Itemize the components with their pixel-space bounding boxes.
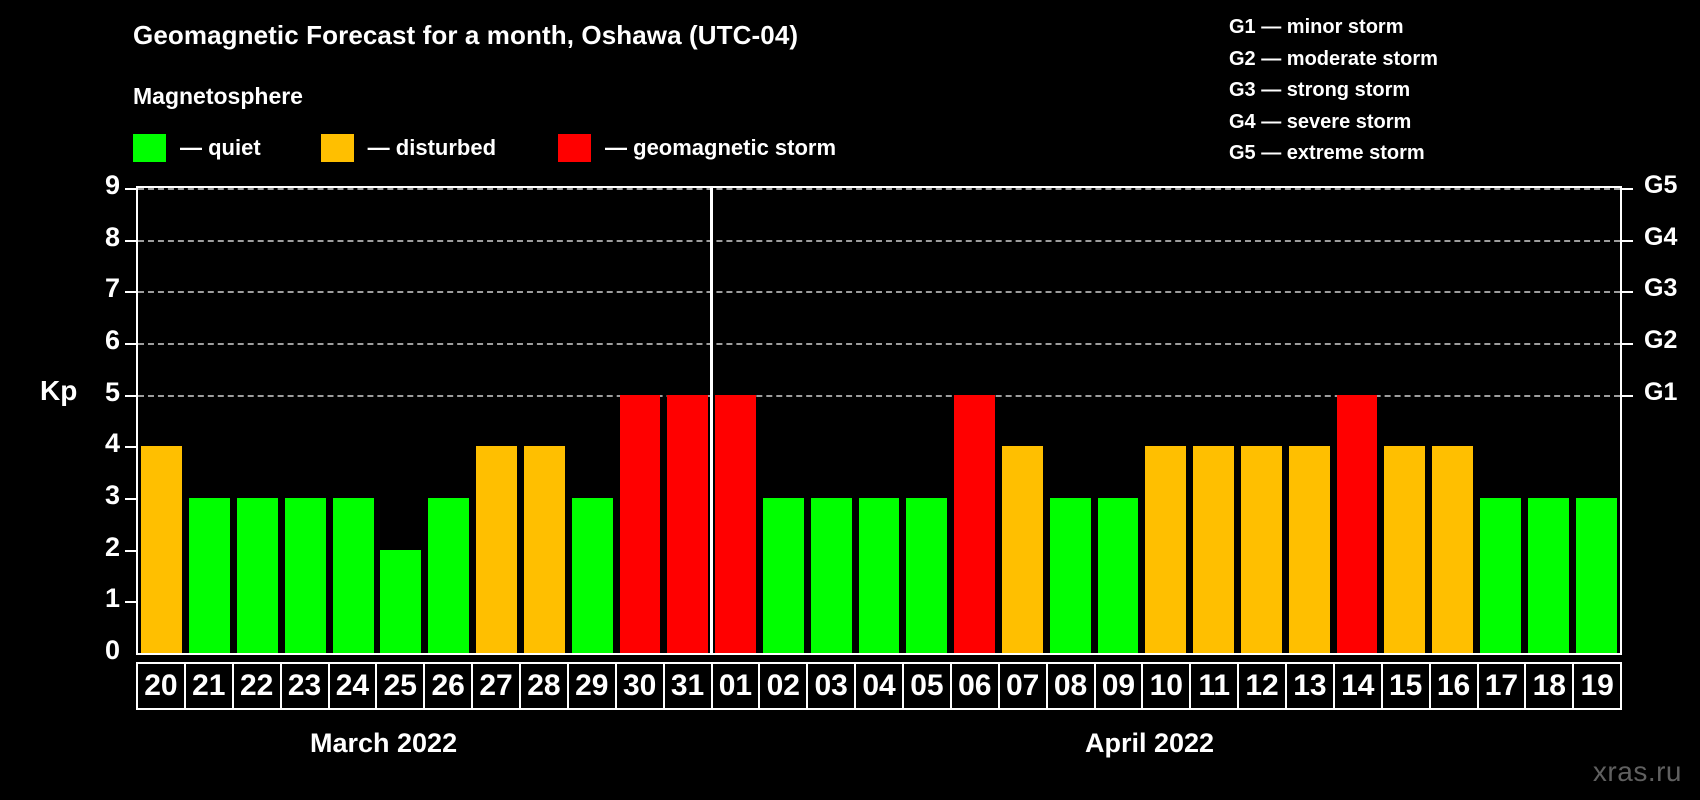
legend-label-disturbed: — disturbed [368, 135, 496, 161]
day-label-11[interactable]: 11 [1189, 662, 1239, 710]
day-label-29[interactable]: 29 [567, 662, 617, 710]
y-tick-label-2: 2 [60, 532, 120, 563]
storm-scale-g2: G2 — moderate storm [1229, 44, 1438, 76]
day-label-19[interactable]: 19 [1572, 662, 1622, 710]
day-label-27[interactable]: 27 [471, 662, 521, 710]
g-tick-label-G5: G5 [1644, 171, 1677, 200]
y-tick-mark-7 [125, 291, 136, 293]
legend-item-disturbed: — disturbed [321, 134, 496, 162]
day-label-09[interactable]: 09 [1094, 662, 1144, 710]
legend-item-quiet: — quiet [133, 134, 261, 162]
page-title: Geomagnetic Forecast for a month, Oshawa… [133, 20, 798, 51]
bar-day-02 [763, 498, 804, 653]
day-label-01[interactable]: 01 [711, 662, 761, 710]
bar-day-13 [1289, 446, 1330, 653]
y-tick-label-9: 9 [60, 170, 120, 201]
plot-area [136, 186, 1622, 655]
bar-day-30 [620, 395, 661, 653]
storm-scale-g3: G3 — strong storm [1229, 75, 1438, 107]
day-axis: 2021222324252627282930310102030405060708… [136, 662, 1622, 710]
legend-swatch-quiet [133, 134, 166, 162]
y-tick-mark-3 [125, 498, 136, 500]
day-label-10[interactable]: 10 [1141, 662, 1191, 710]
bar-day-19 [1576, 498, 1617, 653]
bar-day-09 [1098, 498, 1139, 653]
day-label-26[interactable]: 26 [423, 662, 473, 710]
day-label-18[interactable]: 18 [1524, 662, 1574, 710]
day-label-12[interactable]: 12 [1237, 662, 1287, 710]
day-label-24[interactable]: 24 [328, 662, 378, 710]
y-tick-mark-9 [125, 188, 136, 190]
y-tick-label-5: 5 [60, 377, 120, 408]
y-tick-label-1: 1 [60, 583, 120, 614]
day-label-15[interactable]: 15 [1381, 662, 1431, 710]
y-tick-label-3: 3 [60, 480, 120, 511]
bar-day-06 [954, 395, 995, 653]
day-label-21[interactable]: 21 [184, 662, 234, 710]
g-tick-mark-G3 [1622, 291, 1633, 293]
storm-scale-g5: G5 — extreme storm [1229, 138, 1438, 170]
day-label-02[interactable]: 02 [758, 662, 808, 710]
g-tick-label-G1: G1 [1644, 378, 1677, 407]
bar-day-21 [189, 498, 230, 653]
bar-day-25 [380, 550, 421, 653]
legend-heading: Magnetosphere [133, 83, 303, 110]
g-tick-mark-G5 [1622, 188, 1633, 190]
legend-label-storm: — geomagnetic storm [605, 135, 836, 161]
bar-series [138, 188, 1620, 653]
bar-day-20 [141, 446, 182, 653]
bar-day-22 [237, 498, 278, 653]
day-label-22[interactable]: 22 [232, 662, 282, 710]
day-label-07[interactable]: 07 [998, 662, 1048, 710]
y-tick-label-8: 8 [60, 222, 120, 253]
bar-day-17 [1480, 498, 1521, 653]
bar-day-01 [715, 395, 756, 653]
g-tick-mark-G1 [1622, 395, 1633, 397]
bar-day-03 [811, 498, 852, 653]
legend-swatch-storm [558, 134, 591, 162]
bar-day-14 [1337, 395, 1378, 653]
y-tick-mark-8 [125, 240, 136, 242]
day-label-23[interactable]: 23 [280, 662, 330, 710]
day-label-16[interactable]: 16 [1429, 662, 1479, 710]
day-label-17[interactable]: 17 [1477, 662, 1527, 710]
bar-day-18 [1528, 498, 1569, 653]
storm-scale-legend: G1 — minor storm G2 — moderate storm G3 … [1229, 12, 1438, 170]
bar-day-23 [285, 498, 326, 653]
y-tick-label-0: 0 [60, 635, 120, 666]
bar-day-31 [667, 395, 708, 653]
bar-day-27 [476, 446, 517, 653]
day-label-20[interactable]: 20 [136, 662, 186, 710]
month-label-april: April 2022 [1085, 728, 1214, 759]
g-tick-label-G2: G2 [1644, 326, 1677, 355]
chart-root: Geomagnetic Forecast for a month, Oshawa… [0, 0, 1700, 800]
y-tick-mark-2 [125, 550, 136, 552]
day-label-25[interactable]: 25 [375, 662, 425, 710]
watermark: xras.ru [1593, 756, 1682, 788]
bar-day-10 [1145, 446, 1186, 653]
day-label-13[interactable]: 13 [1285, 662, 1335, 710]
day-label-06[interactable]: 06 [950, 662, 1000, 710]
y-tick-label-4: 4 [60, 428, 120, 459]
day-label-04[interactable]: 04 [854, 662, 904, 710]
day-label-28[interactable]: 28 [519, 662, 569, 710]
magnetosphere-legend: — quiet — disturbed — geomagnetic storm [133, 134, 836, 162]
bar-day-28 [524, 446, 565, 653]
day-label-03[interactable]: 03 [806, 662, 856, 710]
day-label-31[interactable]: 31 [663, 662, 713, 710]
bar-day-04 [859, 498, 900, 653]
day-label-08[interactable]: 08 [1046, 662, 1096, 710]
day-label-05[interactable]: 05 [902, 662, 952, 710]
g-tick-mark-G2 [1622, 343, 1633, 345]
storm-scale-g4: G4 — severe storm [1229, 107, 1438, 139]
bar-day-26 [428, 498, 469, 653]
legend-label-quiet: — quiet [180, 135, 261, 161]
y-tick-label-7: 7 [60, 273, 120, 304]
month-label-march: March 2022 [310, 728, 457, 759]
bar-day-29 [572, 498, 613, 653]
bar-day-15 [1384, 446, 1425, 653]
legend-swatch-disturbed [321, 134, 354, 162]
g-tick-mark-G4 [1622, 240, 1633, 242]
bar-day-16 [1432, 446, 1473, 653]
g-tick-label-G4: G4 [1644, 223, 1677, 252]
y-tick-mark-4 [125, 446, 136, 448]
bar-day-11 [1193, 446, 1234, 653]
y-tick-mark-6 [125, 343, 136, 345]
y-tick-mark-1 [125, 601, 136, 603]
bar-day-07 [1002, 446, 1043, 653]
day-label-30[interactable]: 30 [615, 662, 665, 710]
y-tick-mark-5 [125, 395, 136, 397]
legend-item-storm: — geomagnetic storm [558, 134, 836, 162]
day-label-14[interactable]: 14 [1333, 662, 1383, 710]
bar-day-08 [1050, 498, 1091, 653]
bar-day-24 [333, 498, 374, 653]
y-tick-label-6: 6 [60, 325, 120, 356]
g-tick-label-G3: G3 [1644, 274, 1677, 303]
bar-day-05 [906, 498, 947, 653]
month-divider-line [710, 188, 713, 653]
storm-scale-g1: G1 — minor storm [1229, 12, 1438, 44]
bar-day-12 [1241, 446, 1282, 653]
